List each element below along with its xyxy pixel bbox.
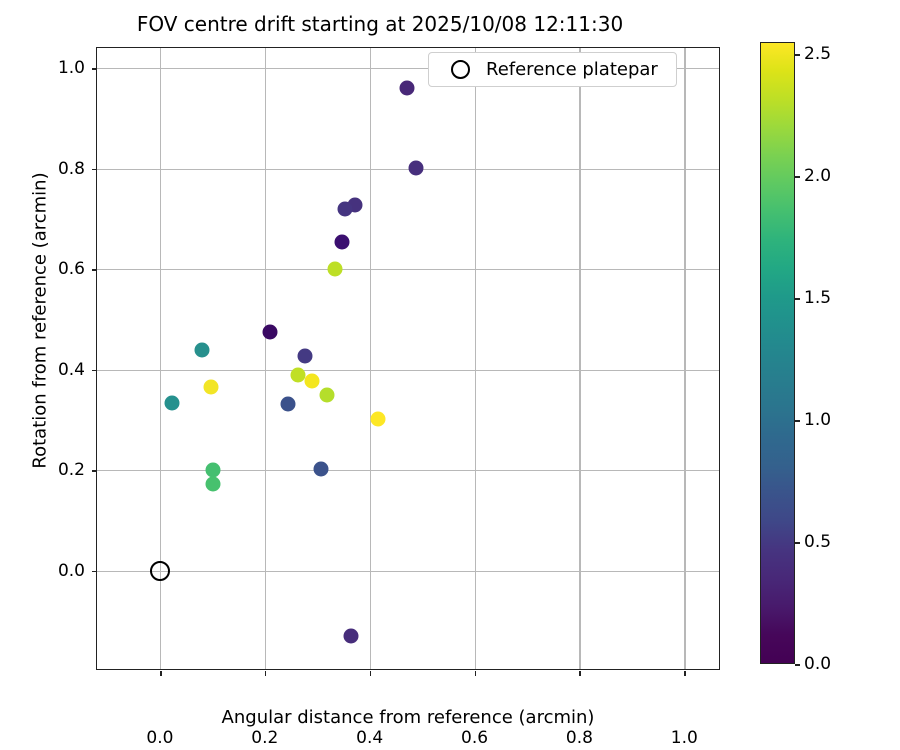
x-axis-tick [475, 671, 477, 676]
scatter-point [304, 374, 319, 389]
scatter-point [399, 81, 414, 96]
colorbar-tick-label: 2.0 [804, 166, 831, 186]
colorbar-tick-label: 2.5 [804, 44, 831, 64]
gridline-vertical [265, 48, 266, 669]
scatter-point [203, 380, 218, 395]
chart-figure: FOV centre drift starting at 2025/10/08 … [0, 0, 900, 750]
page-title: FOV centre drift starting at 2025/10/08 … [0, 12, 760, 36]
gridline-horizontal [97, 470, 719, 471]
gridline-vertical [684, 48, 685, 669]
gridline-horizontal [97, 370, 719, 371]
scatter-point [164, 396, 179, 411]
legend: Reference platepar [428, 52, 677, 87]
scatter-point [344, 629, 359, 644]
scatter-point [314, 461, 329, 476]
scatter-point [371, 411, 386, 426]
scatter-point [194, 343, 209, 358]
colorbar-tick [795, 542, 800, 544]
y-axis-tick [92, 370, 97, 372]
x-axis-tick-label: 0.0 [146, 728, 173, 748]
colorbar-tick [795, 298, 800, 300]
gridline-vertical [579, 48, 580, 669]
plot-area: 0.00.20.40.60.81.00.00.20.40.60.81.0 [96, 47, 720, 670]
x-axis-tick [370, 671, 372, 676]
colorbar-tick-label: 1.0 [804, 410, 831, 430]
x-axis-tick-label: 0.6 [461, 728, 488, 748]
colorbar-tick [795, 54, 800, 56]
x-axis-tick [579, 671, 581, 676]
scatter-point [205, 477, 220, 492]
x-axis-label: Angular distance from reference (arcmin) [96, 707, 720, 728]
gridline-horizontal [97, 571, 719, 572]
gridline-vertical [370, 48, 371, 669]
colorbar-tick-label: 0.0 [804, 654, 831, 674]
y-axis-tick [92, 169, 97, 171]
scatter-point [263, 325, 278, 340]
scatter-point [409, 160, 424, 175]
scatter-point [338, 201, 353, 216]
scatter-point [205, 462, 220, 477]
colorbar-tick [795, 176, 800, 178]
scatter-point [298, 348, 313, 363]
y-axis-tick [92, 68, 97, 70]
y-axis-label: Rotation from reference (arcmin) [30, 21, 51, 621]
x-axis-tick [684, 671, 686, 676]
x-axis-tick-label: 1.0 [671, 728, 698, 748]
scatter-point [335, 234, 350, 249]
scatter-point [328, 262, 343, 277]
x-axis-tick-label: 0.8 [566, 728, 593, 748]
scatter-point [319, 387, 334, 402]
gridline-horizontal [97, 269, 719, 270]
scatter-point [290, 368, 305, 383]
x-axis-tick-label: 0.4 [356, 728, 383, 748]
y-axis-tick [92, 269, 97, 271]
scatter-point [281, 397, 296, 412]
x-axis-tick [160, 671, 162, 676]
y-axis-tick [92, 571, 97, 573]
colorbar [760, 42, 795, 664]
reference-platepar-point [150, 561, 170, 581]
legend-item-label: Reference platepar [486, 59, 658, 80]
colorbar-tick [795, 664, 800, 666]
colorbar-tick [795, 420, 800, 422]
colorbar-tick-label: 0.5 [804, 532, 831, 552]
y-axis-tick [92, 470, 97, 472]
colorbar-tick-label: 1.5 [804, 288, 831, 308]
gridline-vertical [475, 48, 476, 669]
reference-platepar-marker-icon [451, 60, 470, 79]
x-axis-tick-label: 0.2 [251, 728, 278, 748]
x-axis-tick [265, 671, 267, 676]
